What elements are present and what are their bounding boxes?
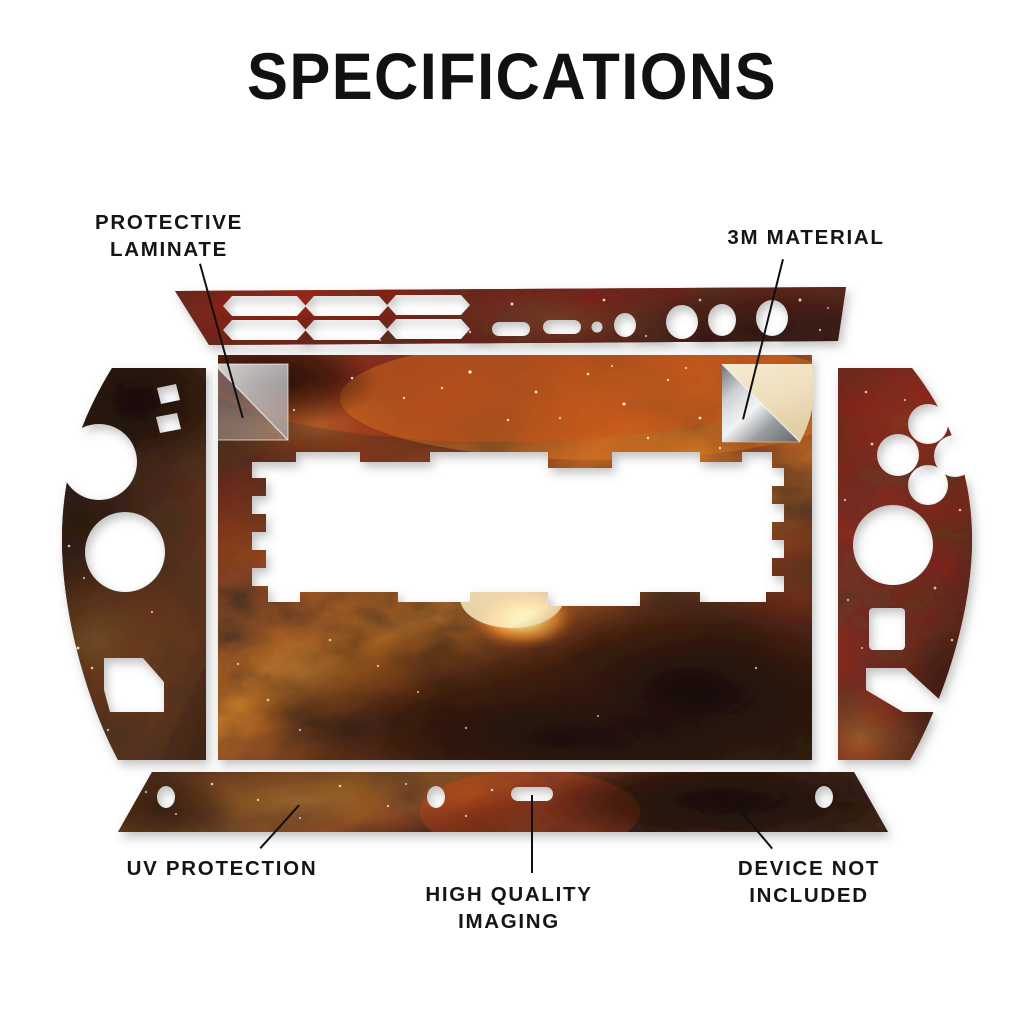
page-title: SPECIFICATIONS (36, 38, 988, 114)
leader-line-protective-laminate (199, 263, 244, 418)
skin-piece-right-controller (790, 355, 1015, 800)
3m-adhesive-peel (722, 364, 814, 442)
protective-laminate-peel (214, 364, 288, 440)
leader-line-high-quality-imaging (531, 795, 533, 873)
skin-piece-left-controller (0, 330, 250, 775)
callout-label-high-quality-imaging: HIGH QUALITY IMAGING (398, 881, 620, 936)
callout-label-uv-protection: UV PROTECTION (88, 855, 356, 882)
callout-label-3m-material: 3M MATERIAL (682, 224, 930, 251)
specifications-page: SPECIFICATIONS (0, 0, 1024, 1024)
skin-piece-bottom-strip (80, 752, 900, 854)
callout-label-device-not-included: DEVICE NOT INCLUDED (690, 855, 928, 910)
leader-line-uv-protection (259, 804, 300, 849)
skin-piece-main-body (158, 302, 910, 800)
leader-line-3m-material (742, 259, 784, 420)
callout-label-protective-laminate: PROTECTIVE LAMINATE (46, 209, 292, 264)
leader-line-device-not-included (735, 805, 773, 849)
skin-piece-top-strip (130, 260, 900, 375)
